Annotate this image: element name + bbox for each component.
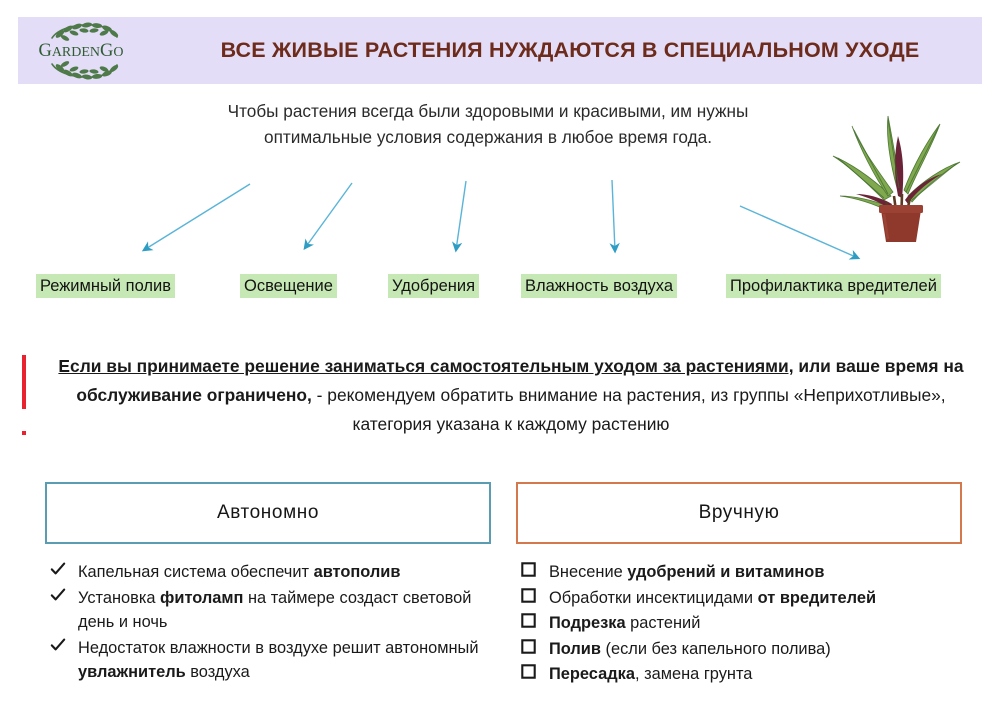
intro-text: Чтобы растения всегда были здоровыми и к… [168, 98, 808, 150]
callout-text: Если вы принимаете решение заниматься са… [42, 352, 980, 439]
page-title: ВСЕ ЖИВЫЕ РАСТЕНИЯ НУЖДАЮТСЯ В СПЕЦИАЛЬН… [160, 17, 980, 84]
list-item: Полив (если без капельного полива) [521, 637, 991, 662]
check-icon [50, 561, 66, 577]
list-item: Капельная система обеспечит автополив [50, 560, 502, 585]
terracotta-pot-icon [879, 205, 923, 242]
empty-checkbox-icon[interactable] [521, 586, 549, 611]
empty-checkbox-icon[interactable] [521, 639, 536, 654]
list-item-label: Установка фитоламп на таймере создаст св… [78, 586, 502, 635]
column-header-manual[interactable]: Вручную [516, 482, 962, 544]
list-item-label: Подрезка растений [549, 611, 991, 636]
callout-accent-bar [22, 355, 26, 409]
list-item-label: Внесение удобрений и витаминов [549, 560, 991, 585]
column-header-autonomous[interactable]: Автономно [45, 482, 491, 544]
callout-accent-dot [22, 431, 26, 435]
arrow-to-tag-1 [305, 183, 352, 248]
gardengo-logo: GARDENGO [22, 19, 140, 82]
list-item-label: Недостаток влажности в воздухе решит авт… [78, 636, 502, 685]
intro-line-2: оптимальные условия содержания в любое в… [168, 124, 808, 150]
empty-checkbox-icon[interactable] [521, 560, 549, 585]
list-item: Установка фитоламп на таймере создаст св… [50, 586, 502, 635]
list-item: Внесение удобрений и витаминов [521, 560, 991, 585]
empty-checkbox-icon[interactable] [521, 562, 536, 577]
list-item: Недостаток влажности в воздухе решит авт… [50, 636, 502, 685]
list-item: Обработки инсектицидами от вредителей [521, 586, 991, 611]
list-item: Подрезка растений [521, 611, 991, 636]
empty-checkbox-icon[interactable] [521, 637, 549, 662]
intro-line-1: Чтобы растения всегда были здоровыми и к… [168, 98, 808, 124]
arrow-to-tag-0 [144, 184, 250, 250]
list-item-label: Капельная система обеспечит автополив [78, 560, 502, 585]
check-icon [50, 636, 78, 661]
tag-regimniy-poliv[interactable]: Режимный полив [36, 274, 175, 298]
empty-checkbox-icon[interactable] [521, 662, 549, 687]
check-icon [50, 586, 78, 611]
empty-checkbox-icon[interactable] [521, 664, 536, 679]
empty-checkbox-icon[interactable] [521, 588, 536, 603]
list-manual: Внесение удобрений и витаминовОбработки … [521, 560, 991, 688]
slide-canvas: GARDENGO ВСЕ ЖИВЫЕ РАСТЕНИЯ НУЖДАЮТСЯ В … [0, 0, 1000, 724]
potted-plant-image [818, 84, 986, 244]
list-item-label: Пересадка, замена грунта [549, 662, 991, 687]
empty-checkbox-icon[interactable] [521, 611, 549, 636]
list-item-label: Обработки инсектицидами от вредителей [549, 586, 991, 611]
tag-vlazhnost-vozduha[interactable]: Влажность воздуха [521, 274, 677, 298]
empty-checkbox-icon[interactable] [521, 613, 536, 628]
logo-wordmark: GARDENGO [38, 41, 123, 61]
laurel-wreath-icon: GARDENGO [22, 19, 140, 82]
callout-regular: - рекомендуем обратить внимание на расте… [312, 385, 946, 434]
check-icon [50, 560, 78, 585]
tag-udobreniya[interactable]: Удобрения [388, 274, 479, 298]
column-title-autonomous: Автономно [217, 502, 319, 524]
arrow-to-tag-2 [456, 181, 466, 250]
column-title-manual: Вручную [699, 502, 780, 524]
list-autonomous: Капельная система обеспечит автополивУст… [50, 560, 502, 686]
check-icon [50, 587, 66, 603]
list-item-label: Полив (если без капельного полива) [549, 637, 991, 662]
tag-osveshchenie[interactable]: Освещение [240, 274, 337, 298]
arrow-to-tag-3 [612, 180, 615, 251]
check-icon [50, 637, 66, 653]
list-item: Пересадка, замена грунта [521, 662, 991, 687]
callout-bold-underlined: Если вы принимаете решение заниматься са… [58, 356, 793, 376]
tag-profilaktika-vrediteley[interactable]: Профилактика вредителей [726, 274, 941, 298]
